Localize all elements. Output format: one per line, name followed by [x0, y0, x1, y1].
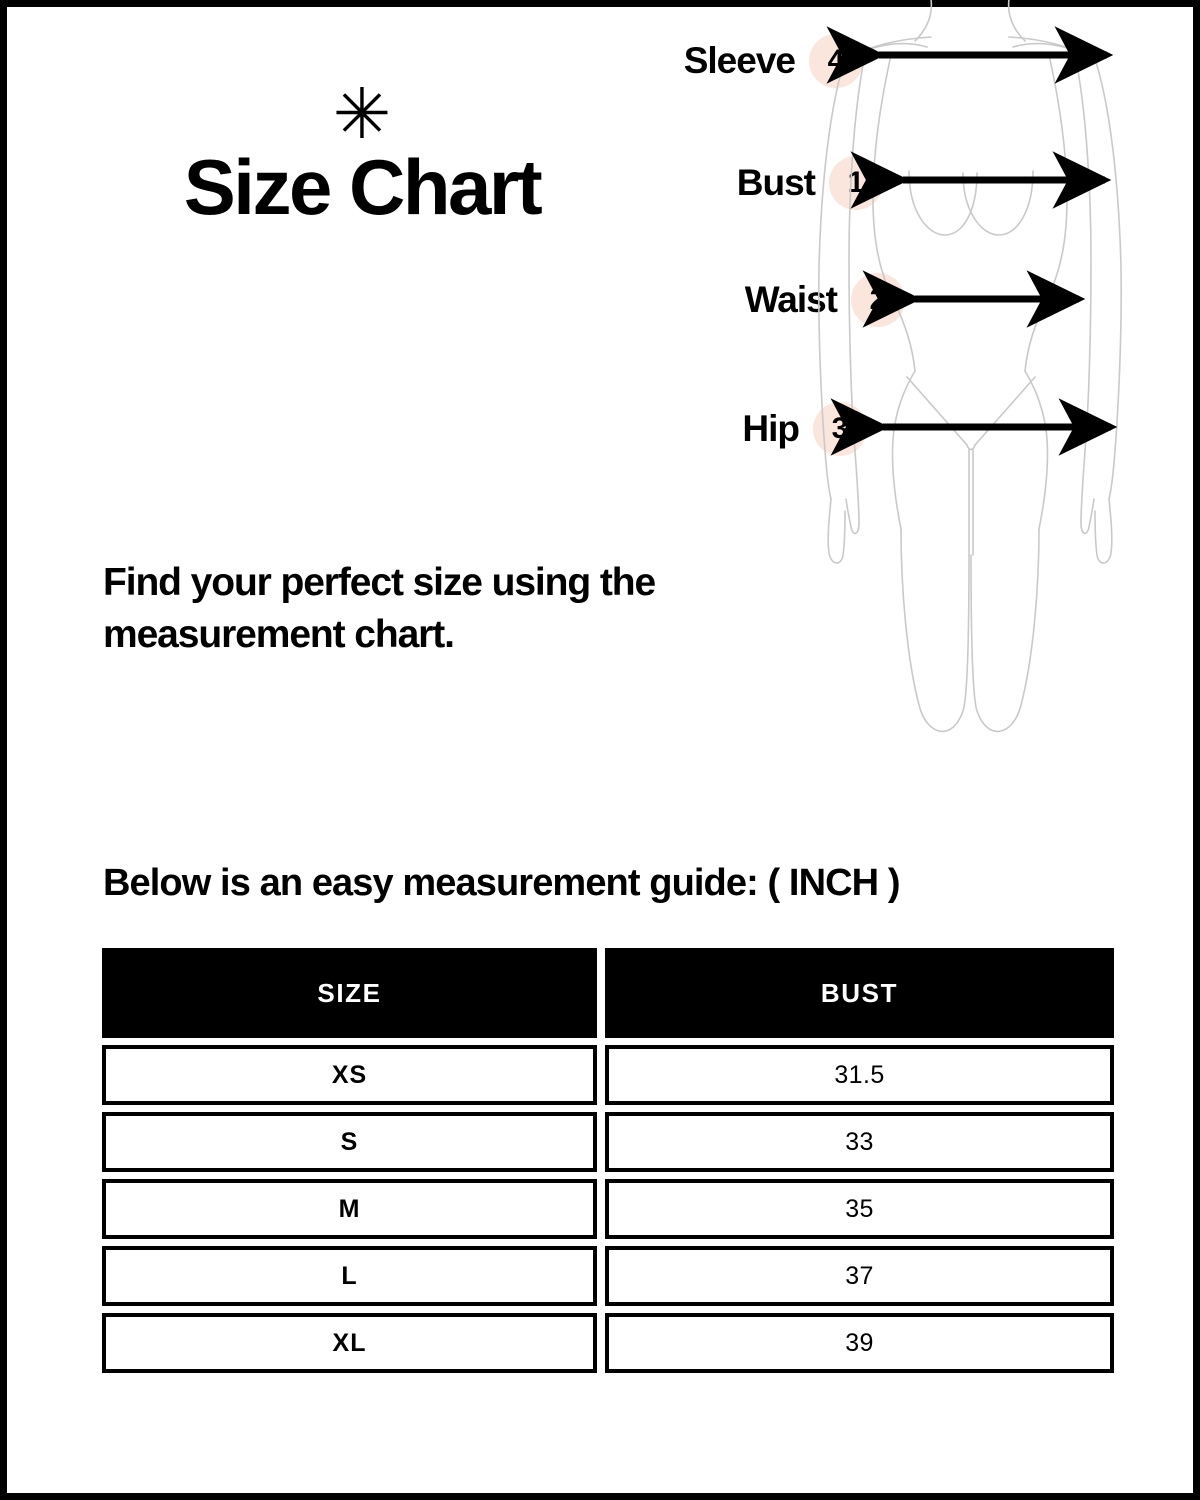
asterisk-icon: ✳ — [102, 92, 622, 144]
table-header-bust: BUST — [605, 948, 1114, 1038]
intro-text: Find your perfect size using the measure… — [103, 557, 783, 661]
table-cell-bust: 37 — [605, 1246, 1114, 1306]
table-row: S 33 — [102, 1112, 1114, 1172]
table-header-size: SIZE — [102, 948, 597, 1038]
measurement-arrows — [879, 55, 1111, 427]
table-cell-size: XS — [102, 1045, 597, 1105]
table-cell-bust: 39 — [605, 1313, 1114, 1373]
table-row: L 37 — [102, 1246, 1114, 1306]
table-row: M 35 — [102, 1179, 1114, 1239]
title-block: ✳ Size Chart — [102, 92, 622, 230]
table-cell-size: L — [102, 1246, 597, 1306]
table-header-row: SIZE BUST — [102, 948, 1114, 1038]
female-body-outline-icon — [767, 0, 1200, 769]
female-body-diagram — [767, 0, 1200, 769]
table-row: XL 39 — [102, 1313, 1114, 1373]
table-cell-bust: 33 — [605, 1112, 1114, 1172]
table-cell-size: XL — [102, 1313, 597, 1373]
table-cell-bust: 31.5 — [605, 1045, 1114, 1105]
size-measurement-table: SIZE BUST XS 31.5 S 33 M 35 L 37 XL 39 — [102, 948, 1114, 1373]
size-chart-page: ✳ Size Chart Sleeve 4 Bust 1 Waist 2 Hip… — [0, 0, 1200, 1500]
table-row: XS 31.5 — [102, 1045, 1114, 1105]
guide-heading: Below is an easy measurement guide: ( IN… — [103, 860, 900, 906]
table-cell-size: M — [102, 1179, 597, 1239]
page-title: Size Chart — [102, 144, 622, 230]
table-cell-bust: 35 — [605, 1179, 1114, 1239]
table-cell-size: S — [102, 1112, 597, 1172]
